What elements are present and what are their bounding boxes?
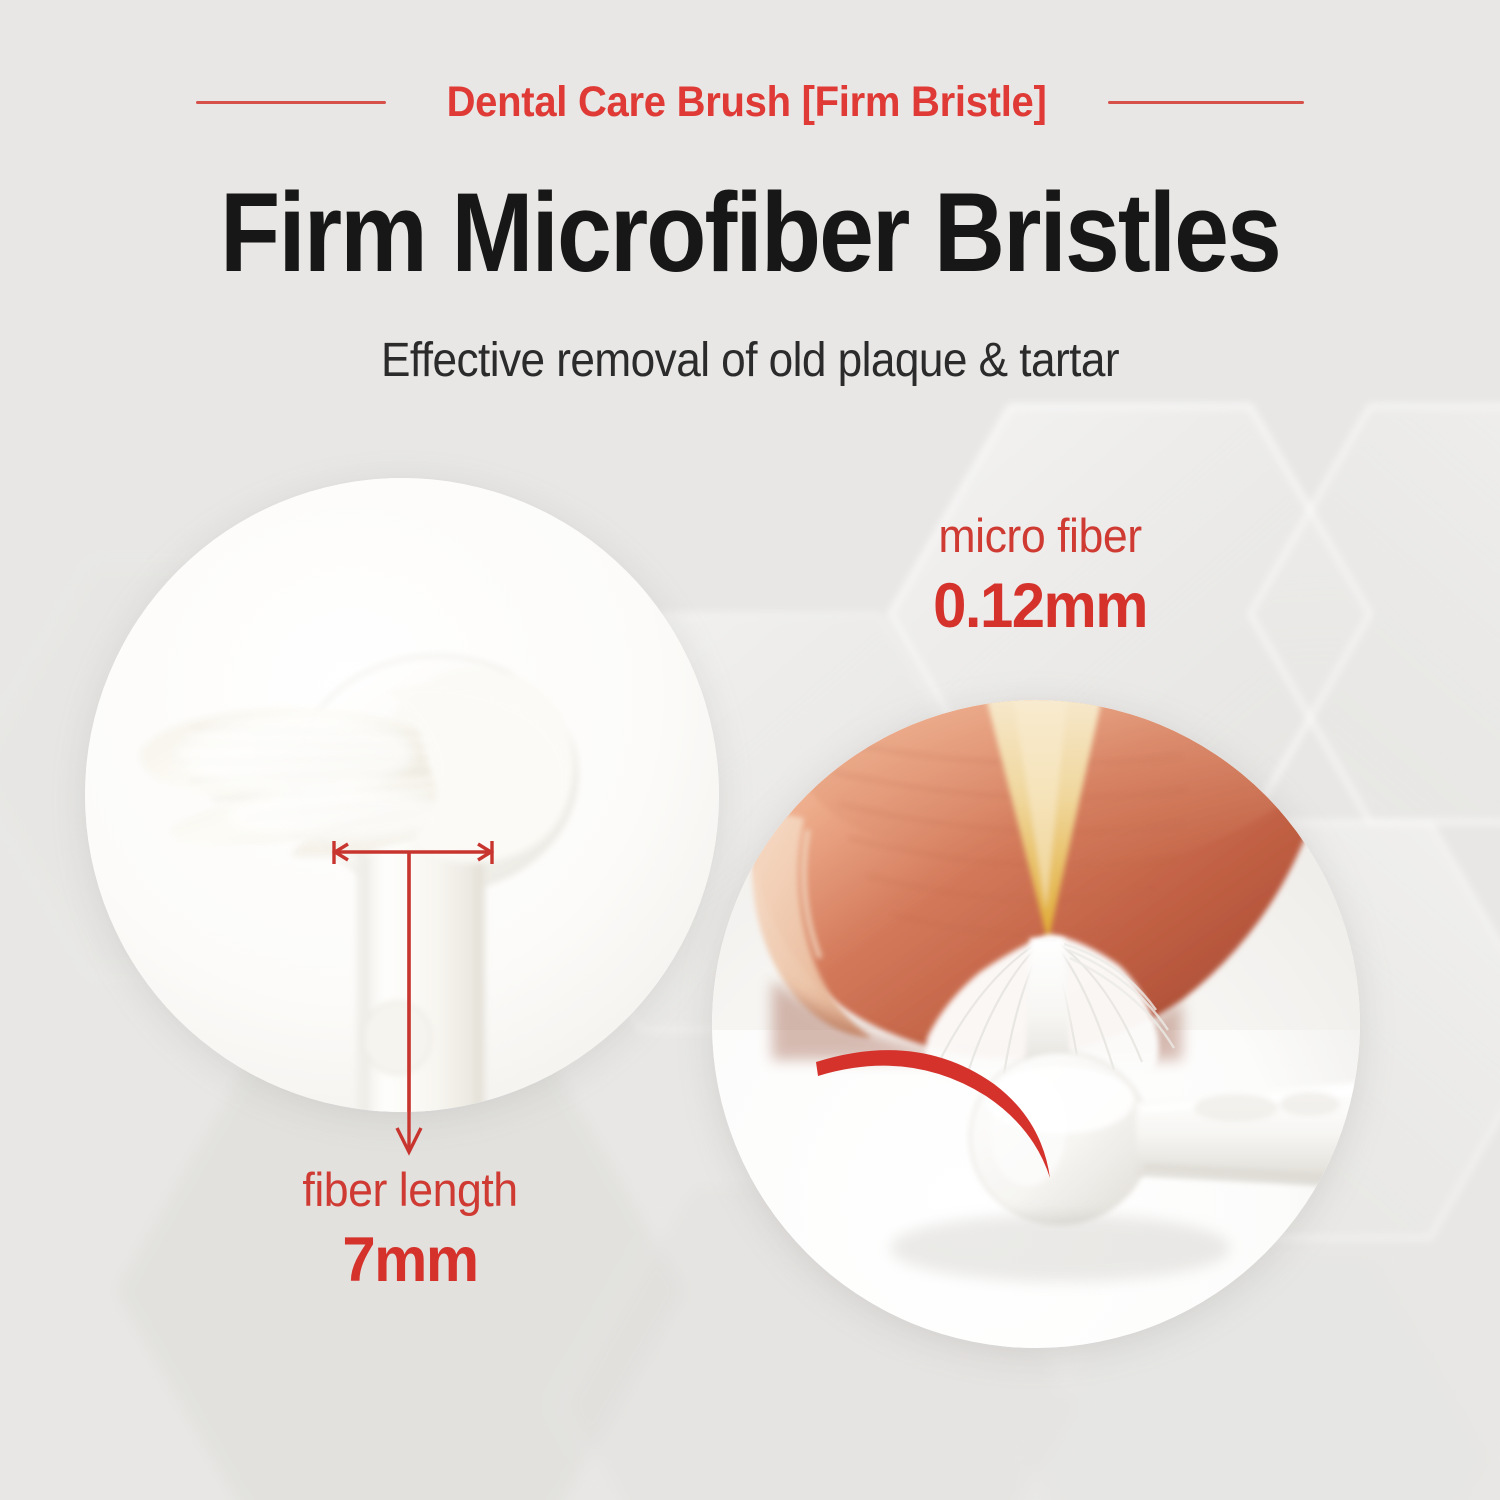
brush-head-photo: [85, 478, 719, 1112]
page-title: Firm Microfiber Bristles: [90, 176, 1410, 290]
microfiber-value: 0.12mm: [841, 575, 1240, 638]
fiber-length-value: 7mm: [215, 1229, 605, 1292]
page-subtitle: Effective removal of old plaque & tartar: [60, 333, 1440, 388]
bristle-thickness-photo: [712, 700, 1360, 1348]
eyebrow-rule-right: [1108, 101, 1304, 104]
infographic-canvas: Dental Care Brush [Firm Bristle] Firm Mi…: [0, 0, 1500, 1500]
eyebrow-text: Dental Care Brush [Firm Bristle]: [447, 78, 1047, 127]
fiber-length-label: fiber length: [215, 1166, 605, 1213]
microfiber-callout: micro fiber 0.12mm: [830, 512, 1250, 638]
eyebrow-row: Dental Care Brush [Firm Bristle]: [0, 78, 1500, 127]
fiber-width-measure-overlay: [85, 478, 719, 1112]
microfiber-label: micro fiber: [841, 512, 1240, 559]
eyebrow-rule-left: [196, 101, 386, 104]
fiber-length-callout: fiber length 7mm: [205, 1166, 615, 1292]
finger-bristle-illustration: [712, 700, 1360, 1348]
